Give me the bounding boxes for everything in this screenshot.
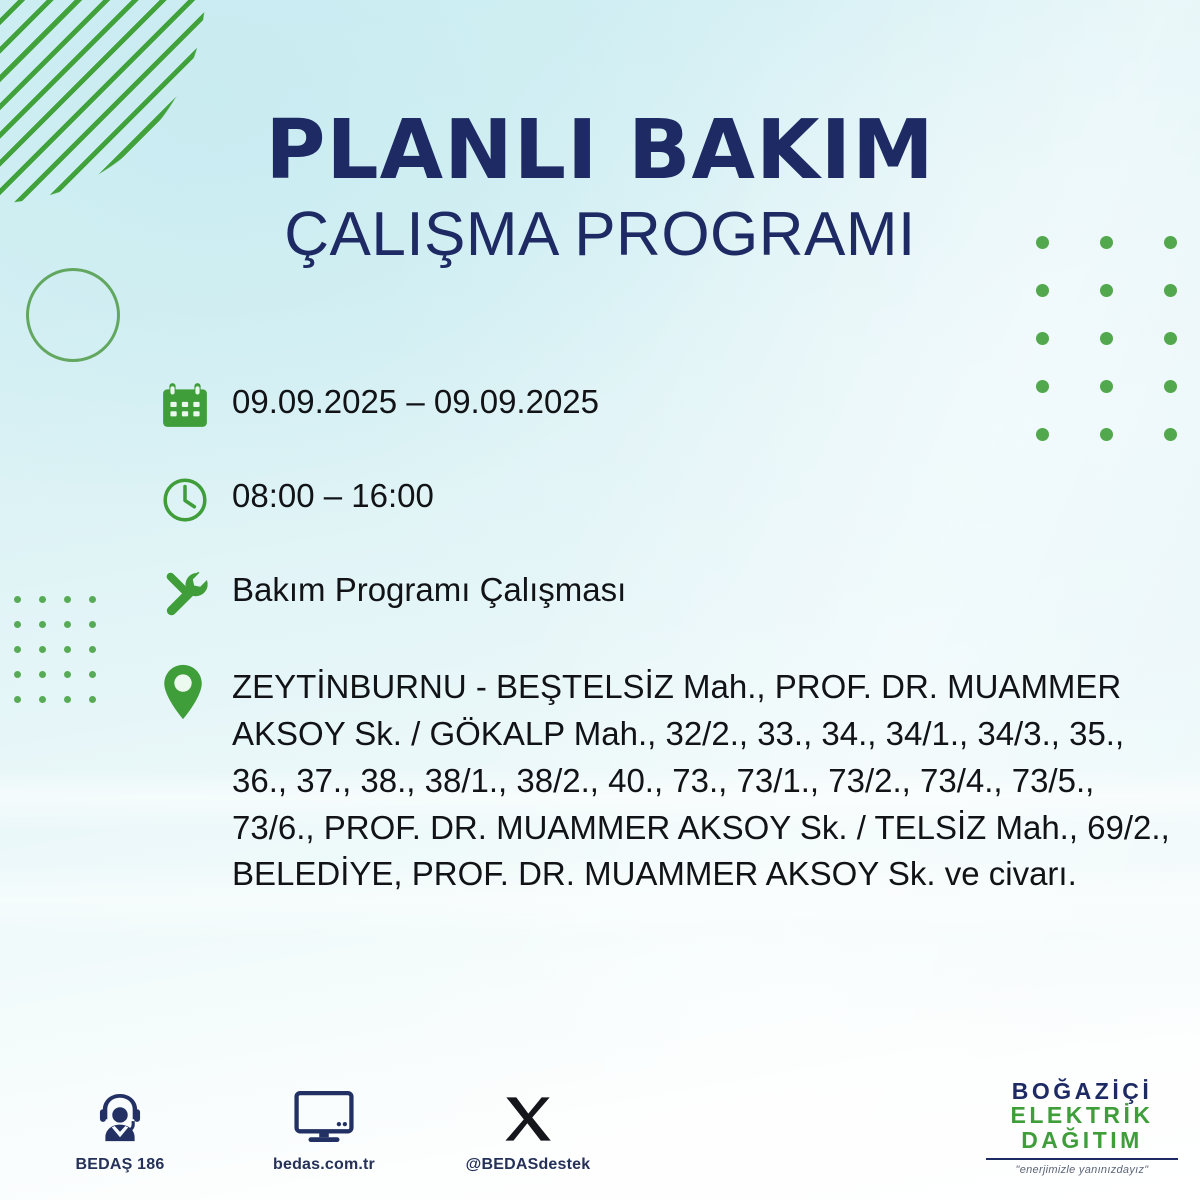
poster-title-block: PLANLI BAKIM ÇALIŞMA PROGRAMI <box>0 110 1200 266</box>
work-type-text: Bakım Programı Çalışması <box>232 566 626 610</box>
address-text: ZEYTİNBURNU - BEŞTELSİZ Mah., PROF. DR. … <box>232 664 1170 898</box>
x-social-icon <box>454 1084 602 1146</box>
logo-line-bogazici: BOĞAZİÇİ <box>982 1079 1182 1104</box>
date-range-text: 09.09.2025 – 09.09.2025 <box>232 378 599 422</box>
info-row-time: 08:00 – 16:00 <box>160 472 1170 528</box>
logo-line-dagitim: DAĞITIM <box>982 1128 1182 1153</box>
footer-contact-bar: BEDAŞ 186 bedas.com.tr @BEDASdestek <box>46 1084 602 1174</box>
logo-tagline: "enerjimizle yanınızdayız" <box>982 1164 1182 1176</box>
footer-label-website: bedas.com.tr <box>250 1156 398 1174</box>
location-pin-icon <box>160 664 232 720</box>
circle-outline-decoration <box>26 268 120 362</box>
outage-info-block: 09.09.2025 – 09.09.2025 08:00 – 16:00 <box>160 378 1170 920</box>
tools-icon <box>160 566 232 622</box>
time-range-text: 08:00 – 16:00 <box>232 472 434 516</box>
brand-logo: BOĞAZİÇİ ELEKTRİK DAĞITIM "enerjimizle y… <box>982 1079 1182 1176</box>
logo-divider <box>986 1158 1178 1160</box>
poster-canvas: PLANLI BAKIM ÇALIŞMA PROGRAMI <box>0 0 1200 1200</box>
footer-label-call-center: BEDAŞ 186 <box>46 1156 194 1174</box>
logo-line-elektrik: ELEKTRİK <box>982 1103 1182 1128</box>
footer-item-call-center[interactable]: BEDAŞ 186 <box>46 1084 194 1174</box>
info-row-work-type: Bakım Programı Çalışması <box>160 566 1170 622</box>
page-subtitle: ÇALIŞMA PROGRAMI <box>0 204 1200 266</box>
monitor-icon <box>250 1084 398 1146</box>
footer-label-social: @BEDASdestek <box>454 1156 602 1174</box>
headset-support-icon <box>46 1084 194 1146</box>
info-row-date: 09.09.2025 – 09.09.2025 <box>160 378 1170 434</box>
page-title: PLANLI BAKIM <box>0 110 1200 192</box>
footer-item-social[interactable]: @BEDASdestek <box>454 1084 602 1174</box>
clock-icon <box>160 472 232 528</box>
calendar-icon <box>160 378 232 434</box>
footer-item-website[interactable]: bedas.com.tr <box>250 1084 398 1174</box>
info-row-address: ZEYTİNBURNU - BEŞTELSİZ Mah., PROF. DR. … <box>160 664 1170 898</box>
